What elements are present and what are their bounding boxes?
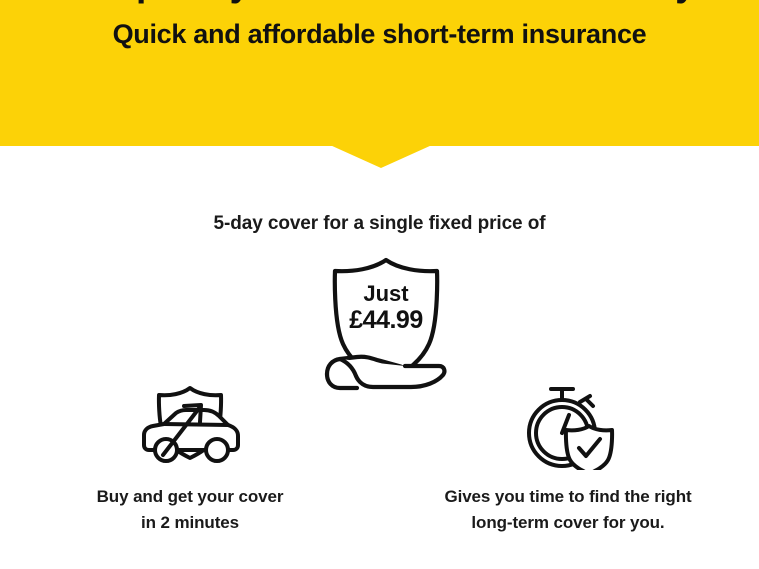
chevron-down-notch-icon	[330, 145, 432, 168]
car-with-shield-arrow-icon	[40, 380, 340, 472]
feature-left-caption: Buy and get your cover in 2 minutes	[40, 484, 340, 536]
shield-in-hand-icon	[313, 256, 459, 392]
hero-banner: Temporary car insurance made easy Quick …	[0, 0, 759, 146]
stopwatch-with-shield-check-icon	[418, 380, 718, 472]
feature-right-caption-line1: Gives you time to find the right	[418, 484, 718, 510]
feature-left-caption-line2: in 2 minutes	[40, 510, 340, 536]
price-lead-text: 5-day cover for a single fixed price of	[0, 211, 759, 237]
hero-subtitle: Quick and affordable short-term insuranc…	[0, 17, 759, 51]
feature-buy-quickly: Buy and get your cover in 2 minutes	[40, 380, 340, 536]
hero-title: Temporary car insurance made easy	[0, 0, 759, 6]
feature-right-caption: Gives you time to find the right long-te…	[418, 484, 718, 536]
feature-time-to-choose: Gives you time to find the right long-te…	[418, 380, 718, 536]
feature-left-caption-line1: Buy and get your cover	[40, 484, 340, 510]
feature-right-caption-line2: long-term cover for you.	[418, 510, 718, 536]
